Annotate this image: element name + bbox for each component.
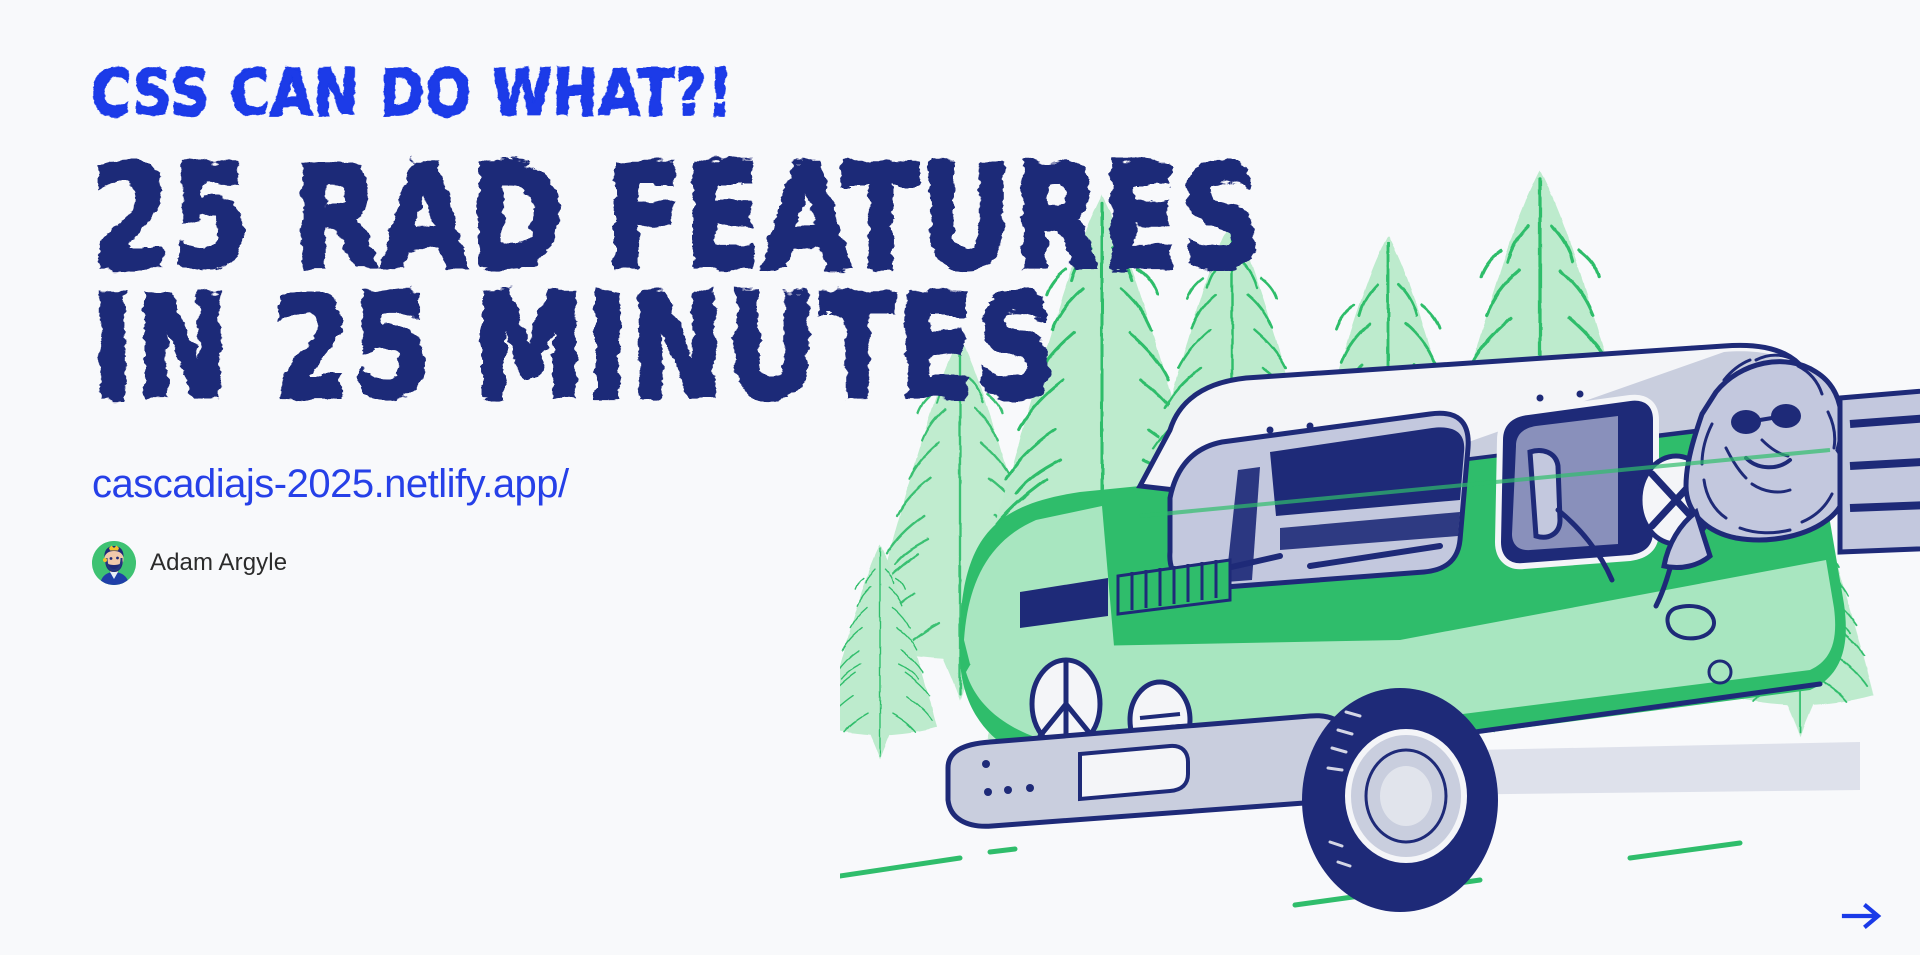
peace-sign-emblem [1032, 660, 1100, 748]
avatar [92, 541, 136, 585]
page-title: 25 RAD FEATURES IN 25 MINUTES [92, 152, 1112, 386]
talk-url-link[interactable]: cascadiajs-2025.netlify.app/ [92, 462, 1112, 507]
next-slide-arrow-icon[interactable] [1840, 899, 1886, 933]
title-block: CSS CAN DO WHAT?! 25 RAD FEATURES IN 25 … [92, 62, 1112, 585]
rear-window-louvers [1840, 372, 1920, 552]
van-roof [1140, 345, 1818, 492]
front-wheel [1302, 688, 1498, 912]
headline-line-2: IN 25 MINUTES [92, 282, 1112, 415]
eyebrow-text: CSS CAN DO WHAT?! [91, 62, 1112, 126]
driver-window [1498, 398, 1656, 567]
road-dashed-lines [840, 843, 1740, 905]
bumper-bolts [982, 760, 1034, 796]
windshield [1170, 413, 1468, 588]
windshield-wipers [1192, 546, 1440, 576]
headlight [1130, 682, 1190, 758]
front-bumper [948, 716, 1352, 827]
sasquatch-passenger-with-sunglasses [1664, 355, 1847, 567]
slide-root: CSS CAN DO WHAT?! 25 RAD FEATURES IN 25 … [0, 0, 1920, 955]
sunglasses-icon [1731, 404, 1801, 434]
door-lock [1709, 661, 1731, 683]
author-name: Adam Argyle [150, 549, 287, 577]
van-roof-shade [1440, 351, 1814, 460]
author-row: Adam Argyle [92, 541, 1112, 585]
steering-wheel [1640, 456, 1712, 606]
van-lower-panel [966, 560, 1835, 749]
side-mirror [1530, 451, 1612, 580]
roof-rack-bolts [1267, 391, 1584, 434]
door-handle [1667, 606, 1714, 638]
